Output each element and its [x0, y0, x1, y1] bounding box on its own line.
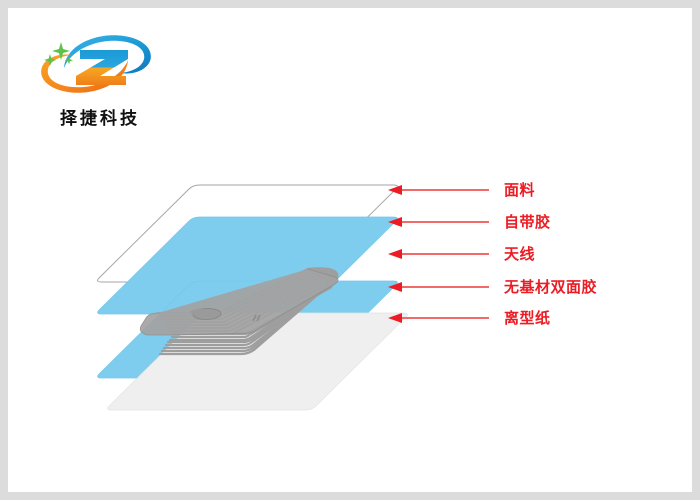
label-double-sided-tape: 无基材双面胶 — [504, 280, 597, 295]
screenshot-root: 择捷科技 — [0, 0, 700, 500]
arrow-self-adhesive — [388, 217, 489, 227]
layer-diagram — [8, 8, 692, 492]
label-release-paper: 离型纸 — [504, 311, 551, 326]
white-canvas: 择捷科技 — [8, 8, 692, 492]
leader-arrows — [388, 185, 489, 323]
label-self-adhesive: 自带胶 — [504, 215, 551, 230]
arrow-double-sided-tape — [388, 282, 489, 292]
label-antenna: 天线 — [504, 247, 535, 262]
arrow-antenna — [388, 249, 489, 259]
arrow-fabric — [388, 185, 489, 195]
label-fabric: 面料 — [504, 183, 535, 198]
